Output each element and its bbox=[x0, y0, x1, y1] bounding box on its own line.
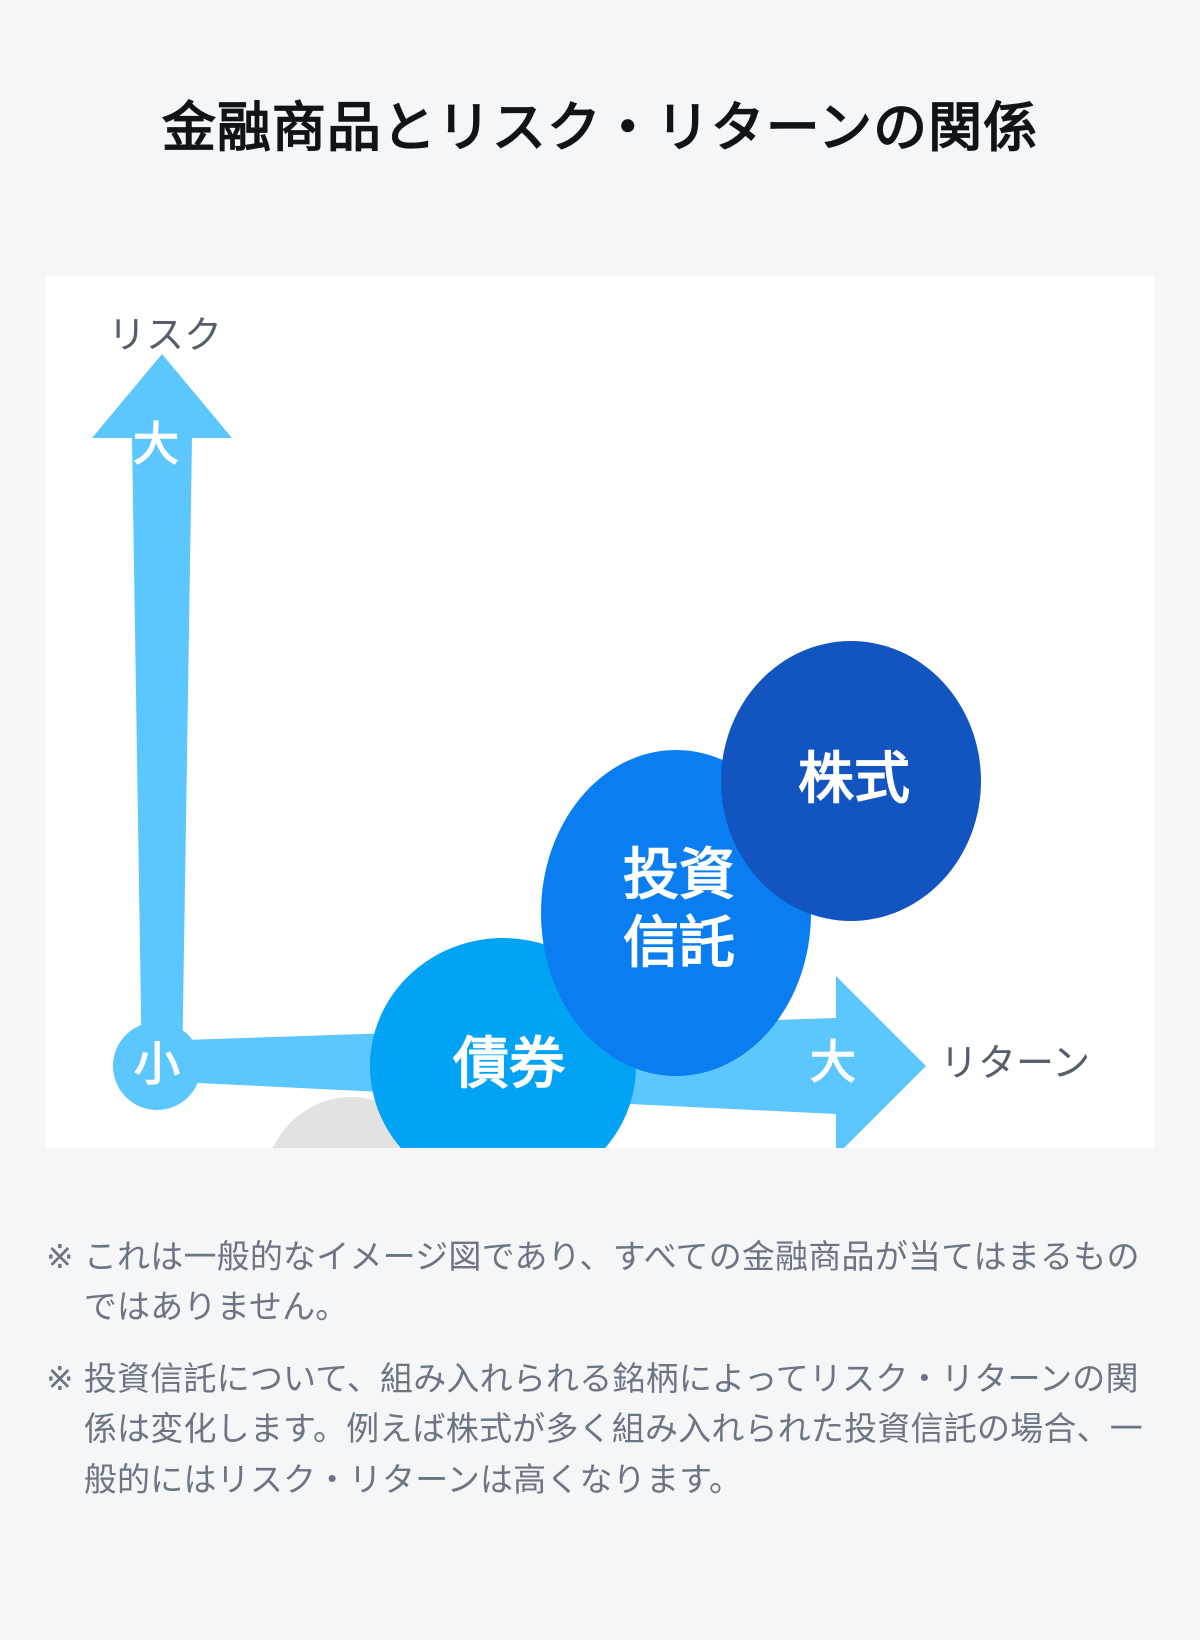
origin-low-label: 小 bbox=[134, 1038, 180, 1090]
footnote-item: ※ 投資信託について、組み入れられる銘柄によってリスク・リターンの関係は変化しま… bbox=[46, 1354, 1158, 1504]
footnote-item: ※ これは一般的なイメージ図であり、すべての金融商品が当てはまるものではありませ… bbox=[46, 1232, 1158, 1332]
footnote-mark-icon: ※ bbox=[46, 1354, 74, 1404]
page-title: 金融商品とリスク・リターンの関係 bbox=[0, 0, 1200, 161]
bubble-fund-label-line1: 投資 bbox=[623, 843, 735, 906]
bubble-stock[interactable]: 株式 bbox=[721, 641, 981, 921]
x-axis-title: リターン bbox=[940, 1043, 1090, 1085]
x-axis-high-label: 大 bbox=[810, 1036, 856, 1088]
chart-card: 大 リスク 大 リターン 小 預金 債券 bbox=[46, 276, 1154, 1148]
bubble-fund-label-line2: 信託 bbox=[623, 911, 735, 974]
footnote-text: これは一般的なイメージ図であり、すべての金融商品が当てはまるものではありません。 bbox=[84, 1232, 1158, 1332]
y-axis-high-label: 大 bbox=[133, 418, 179, 470]
footnote-list: ※ これは一般的なイメージ図であり、すべての金融商品が当てはまるものではありませ… bbox=[46, 1232, 1158, 1527]
y-axis-title: リスク bbox=[108, 315, 222, 357]
bubble-stock-label: 株式 bbox=[798, 747, 910, 810]
origin-marker: 小 bbox=[113, 1022, 201, 1110]
footnote-text: 投資信託について、組み入れられる銘柄によってリスク・リターンの関係は変化します。… bbox=[84, 1354, 1158, 1504]
bubble-bond-label: 債券 bbox=[452, 1032, 566, 1095]
risk-return-diagram: 大 リスク 大 リターン 小 預金 債券 bbox=[46, 276, 1154, 1148]
page-root: 金融商品とリスク・リターンの関係 大 リスク 大 リターン 小 bbox=[0, 0, 1200, 1640]
footnote-mark-icon: ※ bbox=[46, 1232, 74, 1282]
